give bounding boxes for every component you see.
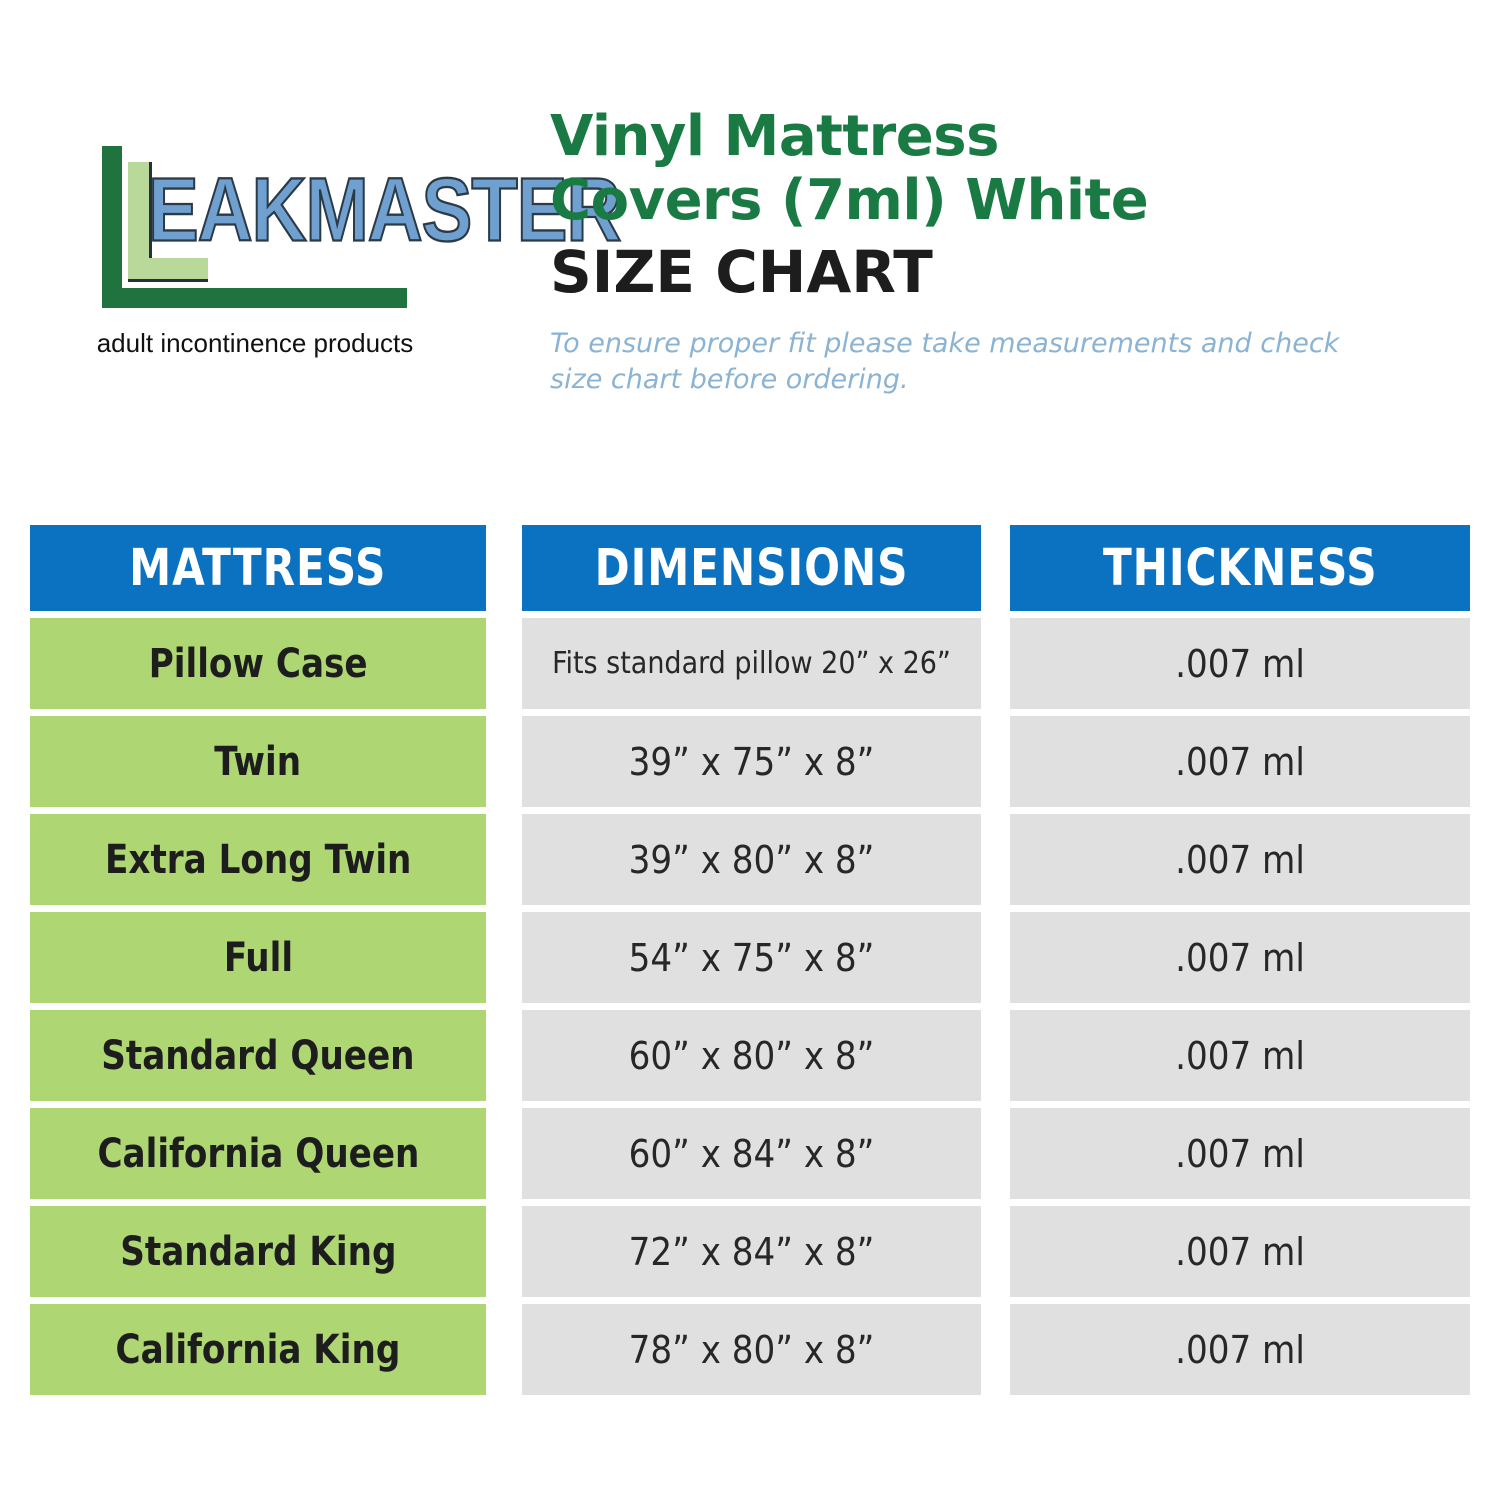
table-row: Twin 39” x 75” x 8” .007 ml — [30, 716, 1470, 807]
cell-dimensions: 78” x 80” x 8” — [522, 1304, 981, 1395]
logo-tagline: adult incontinence products — [90, 328, 420, 359]
table-row: California King 78” x 80” x 8” .007 ml — [30, 1304, 1470, 1395]
cell-dimensions-label: 78” x 80” x 8” — [629, 1331, 875, 1369]
logo-mark: EAKMASTER — [90, 140, 410, 320]
cell-dimensions-label: Fits standard pillow 20” x 26” — [552, 649, 951, 679]
cell-mattress: Standard Queen — [30, 1010, 486, 1101]
cell-mattress: Full — [30, 912, 486, 1003]
cell-thickness: .007 ml — [1010, 716, 1470, 807]
column-gap — [981, 618, 1010, 709]
cell-thickness-label: .007 ml — [1175, 841, 1305, 879]
page-title-line-2: Covers (7ml) White — [550, 169, 1450, 233]
cell-thickness: .007 ml — [1010, 912, 1470, 1003]
cell-mattress: Standard King — [30, 1206, 486, 1297]
cell-thickness: .007 ml — [1010, 1108, 1470, 1199]
cell-thickness: .007 ml — [1010, 1206, 1470, 1297]
cell-dimensions: Fits standard pillow 20” x 26” — [522, 618, 981, 709]
column-gap — [486, 716, 522, 807]
cell-dimensions-label: 54” x 75” x 8” — [629, 939, 875, 977]
cell-dimensions: 60” x 80” x 8” — [522, 1010, 981, 1101]
cell-dimensions: 72” x 84” x 8” — [522, 1206, 981, 1297]
cell-thickness: .007 ml — [1010, 618, 1470, 709]
logo-l-outer-foot-shape — [102, 288, 407, 308]
cell-mattress-label: California Queen — [97, 1134, 419, 1174]
column-header-dimensions: DIMENSIONS — [522, 525, 981, 611]
brand-logo: EAKMASTER adult incontinence products — [90, 140, 420, 360]
column-gap — [486, 814, 522, 905]
column-gap — [981, 716, 1010, 807]
column-gap — [486, 1108, 522, 1199]
column-gap — [981, 814, 1010, 905]
cell-mattress-label: Extra Long Twin — [105, 840, 411, 880]
cell-thickness: .007 ml — [1010, 1304, 1470, 1395]
cell-thickness-label: .007 ml — [1175, 1037, 1305, 1075]
cell-dimensions: 60” x 84” x 8” — [522, 1108, 981, 1199]
column-header-thickness: THICKNESS — [1010, 525, 1470, 611]
cell-mattress-label: Twin — [215, 742, 302, 782]
page-subtitle: To ensure proper fit please take measure… — [550, 326, 1380, 397]
column-gap — [486, 525, 522, 611]
column-gap — [486, 912, 522, 1003]
table-row: Extra Long Twin 39” x 80” x 8” .007 ml — [30, 814, 1470, 905]
table-row: Standard Queen 60” x 80” x 8” .007 ml — [30, 1010, 1470, 1101]
page-title-line-1: Vinyl Mattress — [550, 105, 1450, 169]
cell-mattress: Extra Long Twin — [30, 814, 486, 905]
cell-mattress: California Queen — [30, 1108, 486, 1199]
cell-thickness-label: .007 ml — [1175, 743, 1305, 781]
cell-thickness-label: .007 ml — [1175, 1331, 1305, 1369]
page-header: EAKMASTER adult incontinence products Vi… — [0, 0, 1500, 480]
size-chart-page: EAKMASTER adult incontinence products Vi… — [0, 0, 1500, 1500]
column-header-mattress: MATTRESS — [30, 525, 486, 611]
column-gap — [981, 1206, 1010, 1297]
column-gap — [981, 1304, 1010, 1395]
column-gap — [981, 1010, 1010, 1101]
table-row: Full 54” x 75” x 8” .007 ml — [30, 912, 1470, 1003]
cell-mattress-label: Standard King — [120, 1232, 396, 1272]
column-gap — [981, 1108, 1010, 1199]
column-gap — [981, 912, 1010, 1003]
cell-dimensions-label: 60” x 84” x 8” — [629, 1135, 875, 1173]
page-title-size-chart: SIZE CHART — [550, 241, 1450, 305]
column-gap — [486, 1010, 522, 1101]
cell-mattress: California King — [30, 1304, 486, 1395]
size-chart-table: MATTRESS DIMENSIONS THICKNESS Pillow Cas… — [30, 525, 1470, 1402]
cell-dimensions-label: 39” x 75” x 8” — [629, 743, 875, 781]
table-row: California Queen 60” x 84” x 8” .007 ml — [30, 1108, 1470, 1199]
title-block: Vinyl Mattress Covers (7ml) White SIZE C… — [550, 105, 1450, 398]
column-gap — [486, 1304, 522, 1395]
cell-thickness-label: .007 ml — [1175, 1233, 1305, 1271]
column-header-thickness-label: THICKNESS — [1103, 543, 1378, 594]
cell-thickness-label: .007 ml — [1175, 939, 1305, 977]
cell-dimensions: 39” x 75” x 8” — [522, 716, 981, 807]
column-header-mattress-label: MATTRESS — [129, 543, 386, 594]
table-row: Pillow Case Fits standard pillow 20” x 2… — [30, 618, 1470, 709]
cell-mattress: Twin — [30, 716, 486, 807]
cell-thickness-label: .007 ml — [1175, 1135, 1305, 1173]
cell-mattress-label: Pillow Case — [149, 644, 368, 684]
column-header-dimensions-label: DIMENSIONS — [595, 543, 909, 594]
cell-dimensions: 39” x 80” x 8” — [522, 814, 981, 905]
logo-l-outer-stem-shape — [102, 146, 122, 308]
column-gap — [486, 618, 522, 709]
cell-dimensions-label: 39” x 80” x 8” — [629, 841, 875, 879]
cell-thickness: .007 ml — [1010, 814, 1470, 905]
column-gap — [981, 525, 1010, 611]
cell-dimensions: 54” x 75” x 8” — [522, 912, 981, 1003]
cell-thickness-label: .007 ml — [1175, 645, 1305, 683]
column-gap — [486, 1206, 522, 1297]
table-header-row: MATTRESS DIMENSIONS THICKNESS — [30, 525, 1470, 611]
cell-mattress: Pillow Case — [30, 618, 486, 709]
table-row: Standard King 72” x 84” x 8” .007 ml — [30, 1206, 1470, 1297]
cell-mattress-label: Full — [223, 938, 292, 978]
cell-dimensions-label: 60” x 80” x 8” — [629, 1037, 875, 1075]
cell-mattress-label: California King — [116, 1330, 401, 1370]
cell-mattress-label: Standard Queen — [101, 1036, 414, 1076]
logo-l-inner-foot-shape — [128, 258, 208, 282]
cell-thickness: .007 ml — [1010, 1010, 1470, 1101]
cell-dimensions-label: 72” x 84” x 8” — [629, 1233, 875, 1271]
